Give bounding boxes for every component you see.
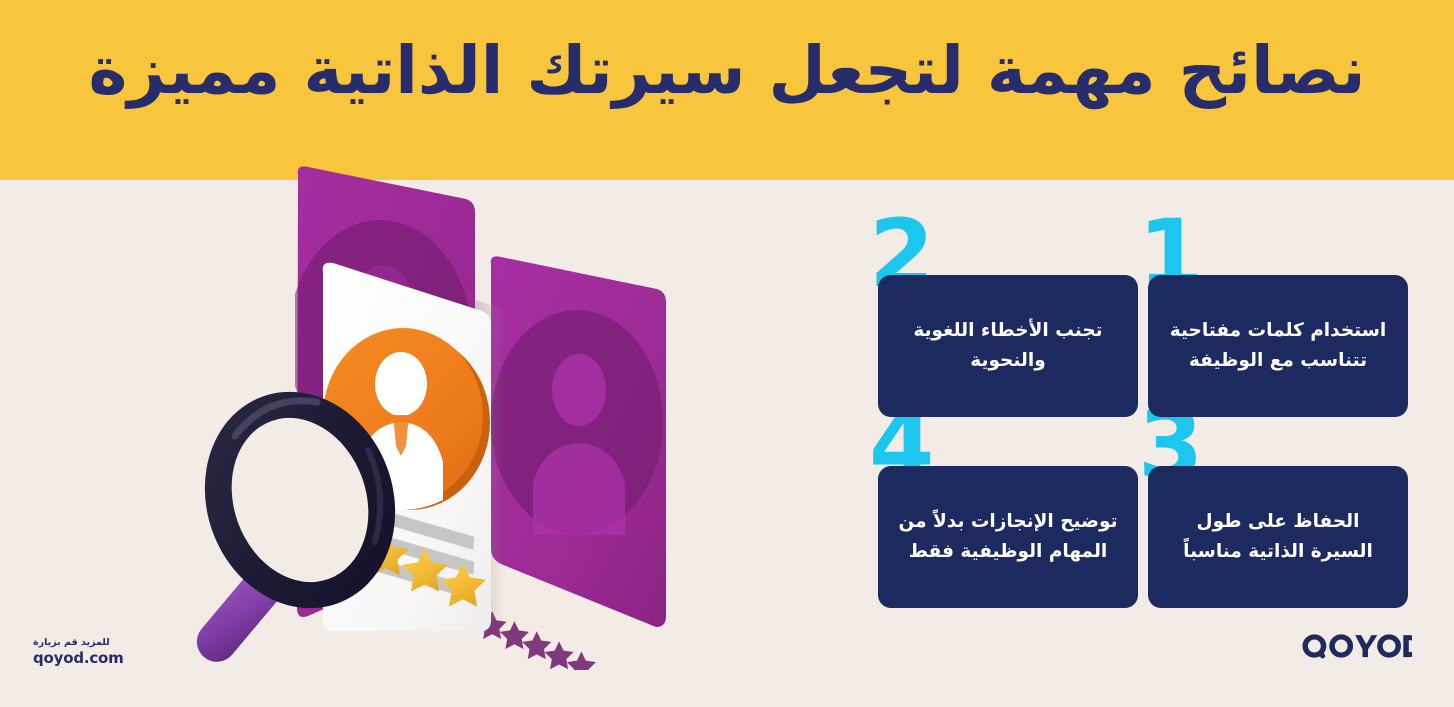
tip-card-1-text: استخدام كلمات مفتاحية تتناسب مع الوظيفة [1166,316,1390,376]
tip-card-2-text: تجنب الأخطاء اللغوية والنحوية [896,316,1120,376]
qoyod-wordmark-icon [1300,632,1412,662]
tip-card-2[interactable]: تجنب الأخطاء اللغوية والنحوية [878,275,1138,417]
tip-card-4-text: توضيح الإنجازات بدلاً من المهام الوظيفية… [896,507,1120,567]
back-resume-card-right [478,256,666,670]
footer-visit-block: للمزيد قم بزيارة qoyod.com [33,637,124,668]
page-title: نصائح مهمة لتجعل سيرتك الذاتية مميزة [0,30,1454,113]
tip-card-3-text: الحفاظ على طول السيرة الذاتية مناسباً [1166,507,1390,567]
tip-card-3[interactable]: الحفاظ على طول السيرة الذاتية مناسباً [1148,466,1408,608]
tip-card-1[interactable]: استخدام كلمات مفتاحية تتناسب مع الوظيفة [1148,275,1408,417]
resume-illustration [175,150,705,670]
footer-visit-label: للمزيد قم بزيارة [33,637,124,649]
qoyod-logo[interactable] [1300,632,1412,662]
infographic-canvas: نصائح مهمة لتجعل سيرتك الذاتية مميزة [0,0,1454,707]
tips-grid: 1 2 3 4 استخدام كلمات مفتاحية تتناسب مع … [878,270,1410,615]
tip-card-4[interactable]: توضيح الإنجازات بدلاً من المهام الوظيفية… [878,466,1138,608]
footer-website-link[interactable]: qoyod.com [33,649,124,668]
